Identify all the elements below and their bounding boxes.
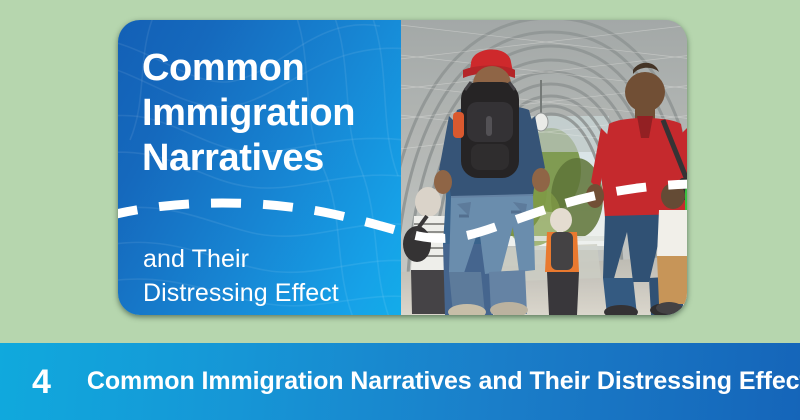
blue-title-panel: Common Immigration Narratives and Their … xyxy=(118,20,401,315)
bottom-title-bar: 4 Common Immigration Narratives and Thei… xyxy=(0,343,800,420)
subtitle-line-2: Distressing Effect xyxy=(143,276,401,310)
title-line-2: Immigration xyxy=(142,91,400,136)
title-line-1: Common xyxy=(142,46,400,91)
border-crossing-photo-illustration xyxy=(401,20,687,315)
banner-subtitle: and Their Distressing Effect xyxy=(143,242,401,310)
banner-title: Common Immigration Narratives xyxy=(142,46,400,181)
slide-number: 4 xyxy=(32,365,51,399)
bottom-bar-title: Common Immigration Narratives and Their … xyxy=(87,369,800,394)
title-line-3: Narratives xyxy=(142,136,400,181)
banner-photo xyxy=(401,20,687,315)
banner-card: Common Immigration Narratives and Their … xyxy=(118,20,687,315)
subtitle-line-1: and Their xyxy=(143,242,401,276)
